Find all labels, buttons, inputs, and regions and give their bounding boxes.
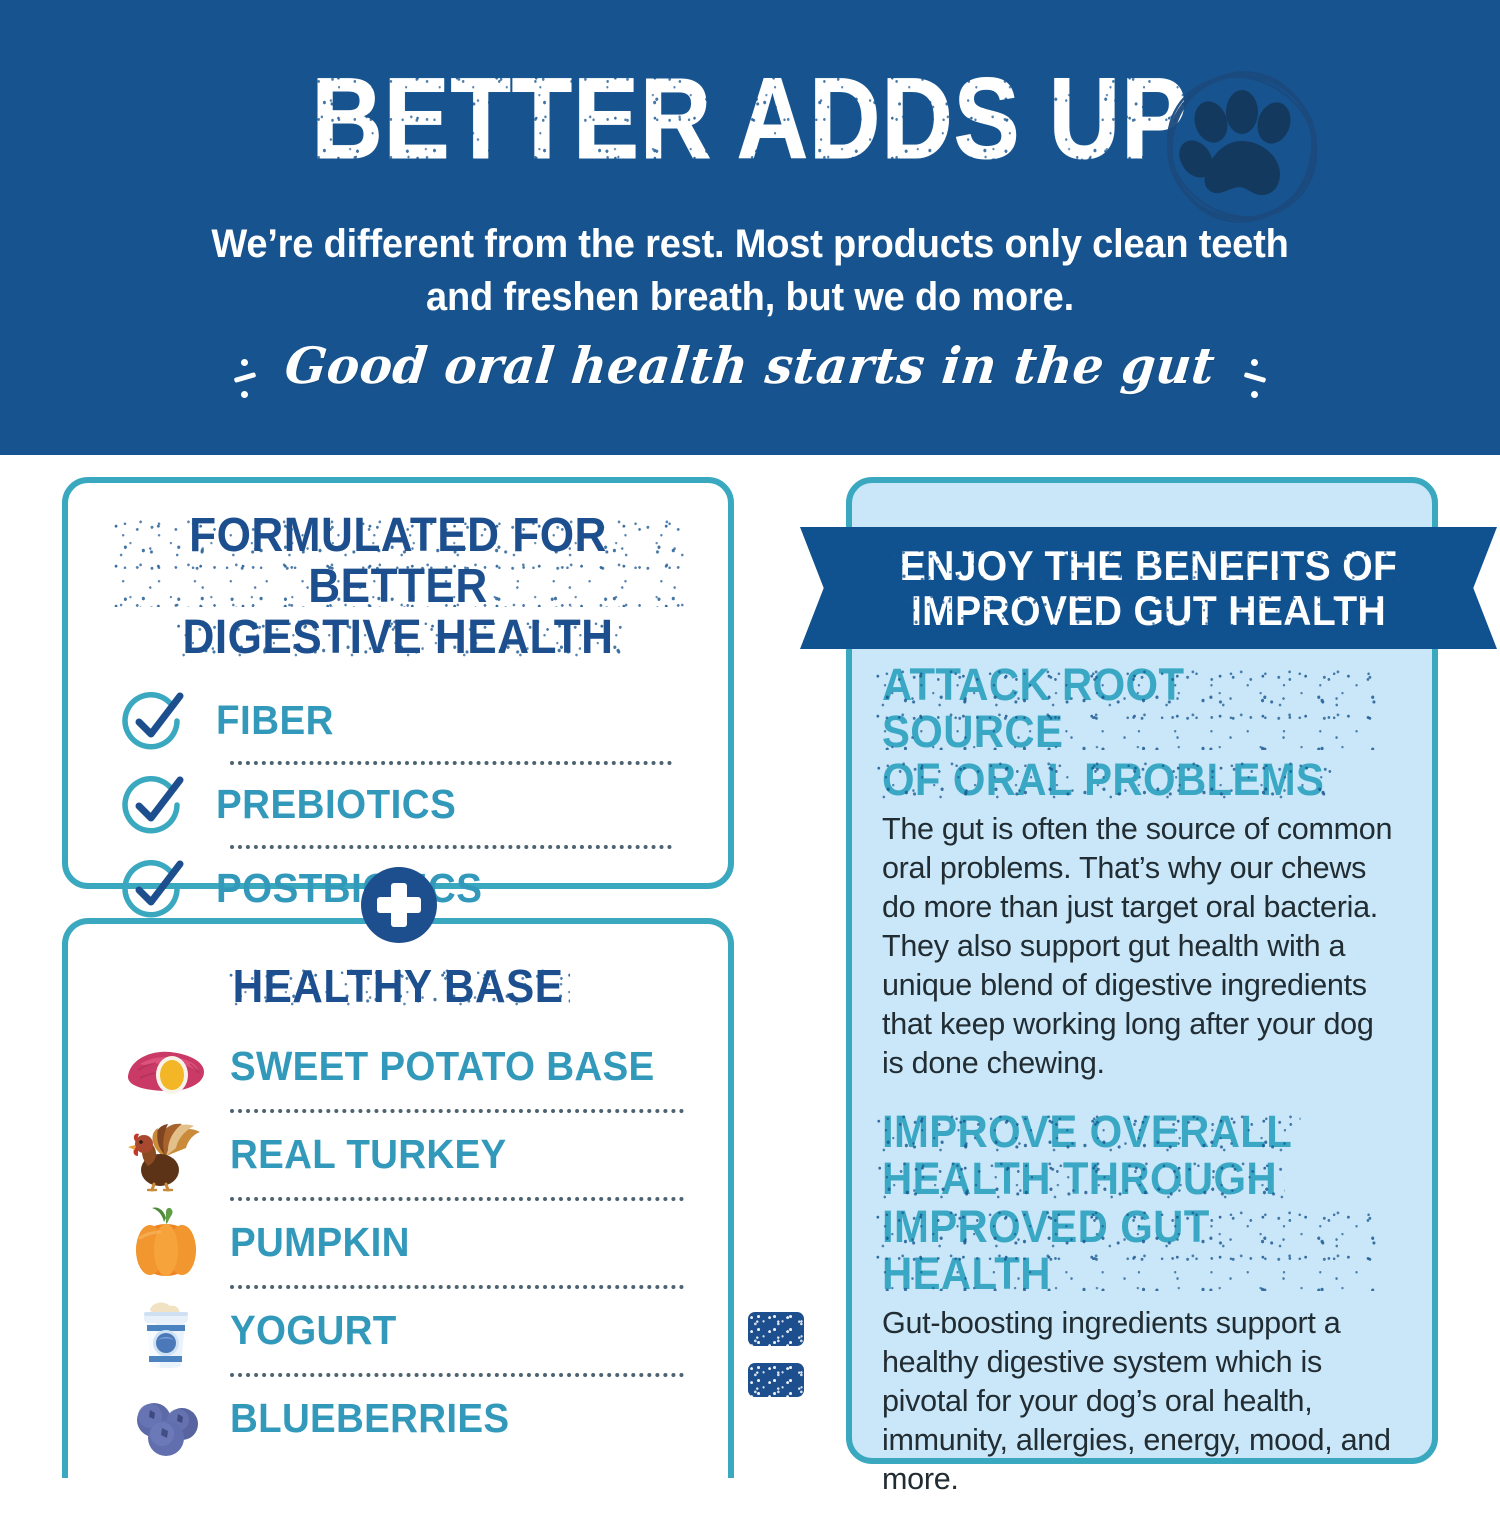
page-title-text: BETTER ADDS UP <box>312 62 1189 177</box>
divider <box>230 761 672 765</box>
blueberries-icon <box>120 1380 212 1458</box>
list-item: PREBIOTICS <box>122 770 682 840</box>
list-item-label: SWEET POTATO BASE <box>230 1043 654 1090</box>
divider <box>230 1197 684 1201</box>
benefit-heading-line-1: ATTACK ROOT SOURCE <box>882 661 1369 756</box>
list-item: PUMPKIN <box>120 1201 688 1285</box>
benefit-heading: ATTACK ROOT SOURCE OF ORAL PROBLEMS <box>882 661 1369 803</box>
header-subtitle-line-1: We’re different from the rest. Most prod… <box>38 218 1463 271</box>
yogurt-cup-icon <box>120 1292 212 1370</box>
benefit-block-improve-overall-health: IMPROVE OVERALL HEALTH THROUGH IMPROVED … <box>882 1108 1406 1498</box>
decorative-badge-upper <box>748 1312 804 1346</box>
formulated-title-line-1: FORMULATED FOR BETTER <box>122 511 674 613</box>
formulated-card: FORMULATED FOR BETTER DIGESTIVE HEALTH F… <box>62 477 734 889</box>
list-item-label: FIBER <box>216 697 334 744</box>
list-item: YOGURT <box>120 1289 688 1373</box>
header-script-tagline: Good oral health starts in the gut <box>0 336 1500 401</box>
benefit-heading-line-1: IMPROVE OVERALL <box>882 1108 1292 1155</box>
circle-check-icon <box>122 857 186 921</box>
list-item-label: PUMPKIN <box>230 1219 410 1266</box>
benefit-paragraph: Gut-boosting ingredients support a healt… <box>882 1303 1398 1498</box>
list-item-label: REAL TURKEY <box>230 1131 506 1178</box>
circle-check-icon <box>122 773 186 837</box>
list-item: BLUEBERRIES <box>120 1377 688 1461</box>
plus-icon <box>361 867 437 943</box>
list-item-label: POSTBIOTICS <box>216 865 482 912</box>
benefit-paragraph: The gut is often the source of common or… <box>882 809 1398 1082</box>
benefit-heading-line-3: IMPROVED GUT HEALTH <box>882 1203 1369 1298</box>
benefit-block-attack-root-source: ATTACK ROOT SOURCE OF ORAL PROBLEMS The … <box>882 661 1406 1082</box>
header-banner: BETTER ADDS UP We’re di <box>0 0 1500 455</box>
circle-check-icon <box>122 689 186 753</box>
divider <box>230 1109 684 1113</box>
decorative-badge-lower <box>748 1363 804 1397</box>
healthy-base-card: HEALTHY BASE <box>62 918 734 1478</box>
formulated-title-line-2: DIGESTIVE HEALTH <box>182 613 613 664</box>
decorative-dash-dot-left-icon <box>232 357 258 401</box>
benefit-heading-line-2: HEALTH THROUGH <box>882 1155 1277 1202</box>
turkey-icon <box>120 1116 212 1194</box>
healthy-base-title-text: HEALTHY BASE <box>233 962 564 1011</box>
content-area: FORMULATED FOR BETTER DIGESTIVE HEALTH F… <box>0 455 1500 1464</box>
header-script-text: Good oral health starts in the gut <box>282 336 1218 395</box>
divider <box>230 845 672 849</box>
benefits-panel: ENJOY THE BENEFITS OF IMPROVED GUT HEALT… <box>846 477 1438 1464</box>
benefit-heading: IMPROVE OVERALL HEALTH THROUGH IMPROVED … <box>882 1108 1369 1297</box>
list-item-label: BLUEBERRIES <box>230 1395 509 1442</box>
decorative-dash-dot-right-icon <box>1242 357 1268 401</box>
list-item-label: PREBIOTICS <box>216 781 456 828</box>
benefits-ribbon-banner: ENJOY THE BENEFITS OF IMPROVED GUT HEALT… <box>800 527 1497 649</box>
divider <box>230 1373 684 1377</box>
list-item: SWEET POTATO BASE <box>120 1025 688 1109</box>
list-item: REAL TURKEY <box>120 1113 688 1197</box>
header-subtitle-line-2: and freshen breath, but we do more. <box>38 271 1463 324</box>
list-item-label: YOGURT <box>230 1307 397 1354</box>
ribbon-line-2: IMPROVED GUT HEALTH <box>911 588 1386 633</box>
sweet-potato-icon <box>120 1028 212 1106</box>
list-item: FIBER <box>122 686 682 756</box>
paw-print-icon <box>1158 63 1326 231</box>
ribbon-line-1: ENJOY THE BENEFITS OF <box>900 543 1398 588</box>
pumpkin-icon <box>120 1204 212 1282</box>
benefit-heading-line-2: OF ORAL PROBLEMS <box>882 756 1324 803</box>
healthy-base-ingredient-list: SWEET POTATO BASE <box>68 1025 728 1461</box>
header-subtitle: We’re different from the rest. Most prod… <box>38 218 1463 324</box>
divider <box>230 1285 684 1289</box>
formulated-card-title: FORMULATED FOR BETTER DIGESTIVE HEALTH <box>94 483 701 664</box>
